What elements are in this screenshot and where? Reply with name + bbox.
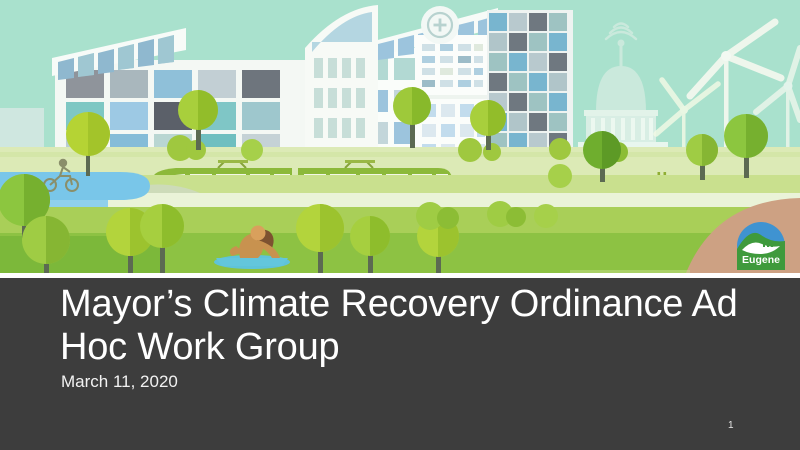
presentation-slide: Eugene Mayor’s Climate Recovery Ordinanc… bbox=[0, 0, 800, 450]
eugene-logo: Eugene bbox=[736, 221, 786, 271]
logo-text: Eugene bbox=[742, 254, 780, 266]
hero-illustration bbox=[0, 0, 800, 273]
slide-subtitle: March 11, 2020 bbox=[61, 372, 178, 392]
page-number: 1 bbox=[728, 420, 734, 431]
slide-title: Mayor’s Climate Recovery Ordinance Ad Ho… bbox=[60, 283, 760, 368]
